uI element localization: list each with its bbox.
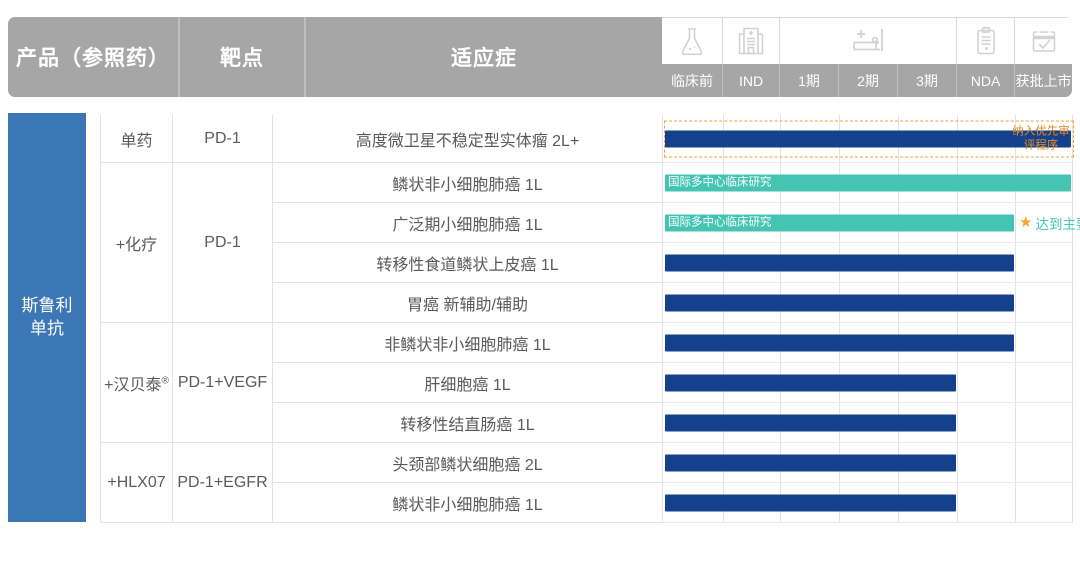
phase-label-phase1: 1期 xyxy=(780,64,839,97)
progress-track xyxy=(663,443,1073,482)
phase-label-phase2: 2期 xyxy=(839,64,898,97)
clipboard-icon xyxy=(957,18,1015,64)
target-cell: PD-1 xyxy=(173,115,273,163)
progress-bar[interactable]: 国际多中心临床研究 xyxy=(665,214,1014,231)
header-product-reference-drug: 产品（参照药） xyxy=(8,17,180,97)
progress-cell: 国际多中心临床研究★达到主要终点OS xyxy=(663,203,1073,243)
progress-track: 纳入优先审评程序 xyxy=(663,115,1073,162)
progress-track xyxy=(663,403,1073,442)
table-row: +汉贝泰®PD-1+VEGF非鳞状非小细胞肺癌 1L xyxy=(101,323,1073,363)
table-row: +HLX07PD-1+EGFR头颈部鳞状细胞癌 2L xyxy=(101,443,1073,483)
hospital-bed-icon xyxy=(780,18,957,64)
indication-cell: 转移性结直肠癌 1L xyxy=(273,403,663,443)
table-row: 单药PD-1高度微卫星不稳定型实体瘤 2L+纳入优先审评程序 xyxy=(101,115,1073,163)
progress-track xyxy=(663,363,1073,402)
header-left-labels: 产品（参照药） 靶点 适应症 xyxy=(8,17,662,97)
target-cell: PD-1+EGFR xyxy=(173,443,273,523)
indication-cell: 非鳞状非小细胞肺癌 1L xyxy=(273,323,663,363)
star-icon: ★ xyxy=(1019,215,1032,230)
combination-cell: +汉贝泰® xyxy=(101,323,173,443)
indication-cell: 高度微卫星不稳定型实体瘤 2L+ xyxy=(273,115,663,163)
indication-cell: 转移性食道鳞状上皮癌 1L xyxy=(273,243,663,283)
product-name-bar: 斯鲁利 单抗 xyxy=(8,113,86,522)
progress-bar[interactable] xyxy=(665,454,956,471)
phase-icon-row xyxy=(662,17,1072,64)
progress-track: 国际多中心临床研究★达到主要终点OS xyxy=(663,203,1073,242)
registered-trademark-icon: ® xyxy=(161,375,168,386)
phase-label-preclinical: 临床前 xyxy=(662,64,723,97)
indication-cell: 胃癌 新辅助/辅助 xyxy=(273,283,663,323)
header-phase-track: 临床前 IND 1期 2期 3期 NDA 获批上市 xyxy=(662,17,1072,97)
hospital-icon xyxy=(723,18,780,64)
phase-label-ind: IND xyxy=(723,64,780,97)
progress-bar[interactable] xyxy=(665,294,1014,311)
flask-icon xyxy=(662,18,723,64)
progress-cell: 纳入优先审评程序 xyxy=(663,115,1073,163)
progress-cell xyxy=(663,363,1073,403)
table-header: 产品（参照药） 靶点 适应症 xyxy=(8,17,1072,97)
progress-track xyxy=(663,483,1073,522)
pipeline-table: 单药PD-1高度微卫星不稳定型实体瘤 2L+纳入优先审评程序+化疗PD-1鳞状非… xyxy=(100,115,1073,523)
progress-bar-label: 国际多中心临床研究 xyxy=(665,174,1071,191)
priority-review-note: 纳入优先审评程序 xyxy=(1011,124,1071,153)
progress-bar[interactable] xyxy=(665,254,1014,271)
progress-cell xyxy=(663,443,1073,483)
product-name-line1: 斯鲁利 xyxy=(22,296,73,315)
target-cell: PD-1+VEGF xyxy=(173,323,273,443)
indication-cell: 肝细胞癌 1L xyxy=(273,363,663,403)
combination-cell: 单药 xyxy=(101,115,173,163)
progress-track xyxy=(663,323,1073,362)
combination-label: 单药 xyxy=(120,133,152,150)
progress-bar[interactable] xyxy=(665,374,956,391)
progress-cell xyxy=(663,243,1073,283)
combination-label: +汉贝泰® xyxy=(104,377,169,394)
progress-track: 国际多中心临床研究 xyxy=(663,163,1073,202)
indication-cell: 鳞状非小细胞肺癌 1L xyxy=(273,483,663,523)
combination-cell: +HLX07 xyxy=(101,443,173,523)
product-name-line2: 单抗 xyxy=(30,319,64,338)
pipeline-table-body: 单药PD-1高度微卫星不稳定型实体瘤 2L+纳入优先审评程序+化疗PD-1鳞状非… xyxy=(101,115,1073,523)
phase-label-phase3: 3期 xyxy=(898,64,957,97)
progress-cell xyxy=(663,483,1073,523)
header-indication: 适应症 xyxy=(306,17,662,97)
progress-track xyxy=(663,283,1073,322)
phase-label-nda: NDA xyxy=(957,64,1015,97)
progress-bar[interactable] xyxy=(665,334,1014,351)
pipeline-chart-root: 产品（参照药） 靶点 适应症 xyxy=(0,0,1080,573)
indication-cell: 鳞状非小细胞肺癌 1L xyxy=(273,163,663,203)
progress-cell xyxy=(663,323,1073,363)
combination-label: +化疗 xyxy=(116,237,157,254)
combination-cell: +化疗 xyxy=(101,163,173,323)
target-cell: PD-1 xyxy=(173,163,273,323)
phase-label-approved: 获批上市 xyxy=(1015,64,1072,97)
header-target: 靶点 xyxy=(180,17,306,97)
progress-cell: 国际多中心临床研究 xyxy=(663,163,1073,203)
progress-cell xyxy=(663,283,1073,323)
progress-bar[interactable] xyxy=(665,494,956,511)
progress-bar[interactable] xyxy=(665,414,956,431)
indication-cell: 广泛期小细胞肺癌 1L xyxy=(273,203,663,243)
progress-bar[interactable]: 国际多中心临床研究 xyxy=(665,174,1071,191)
progress-track xyxy=(663,243,1073,282)
endpoint-os-note: ★达到主要终点OS xyxy=(1019,213,1080,233)
calendar-check-icon xyxy=(1015,18,1072,64)
phase-label-row: 临床前 IND 1期 2期 3期 NDA 获批上市 xyxy=(662,64,1072,97)
indication-cell: 头颈部鳞状细胞癌 2L xyxy=(273,443,663,483)
combination-label: +HLX07 xyxy=(107,474,165,491)
progress-cell xyxy=(663,403,1073,443)
table-row: +化疗PD-1鳞状非小细胞肺癌 1L国际多中心临床研究 xyxy=(101,163,1073,203)
endpoint-os-label: 达到主要终点OS xyxy=(1035,213,1080,233)
progress-bar-label: 国际多中心临床研究 xyxy=(665,214,1014,231)
